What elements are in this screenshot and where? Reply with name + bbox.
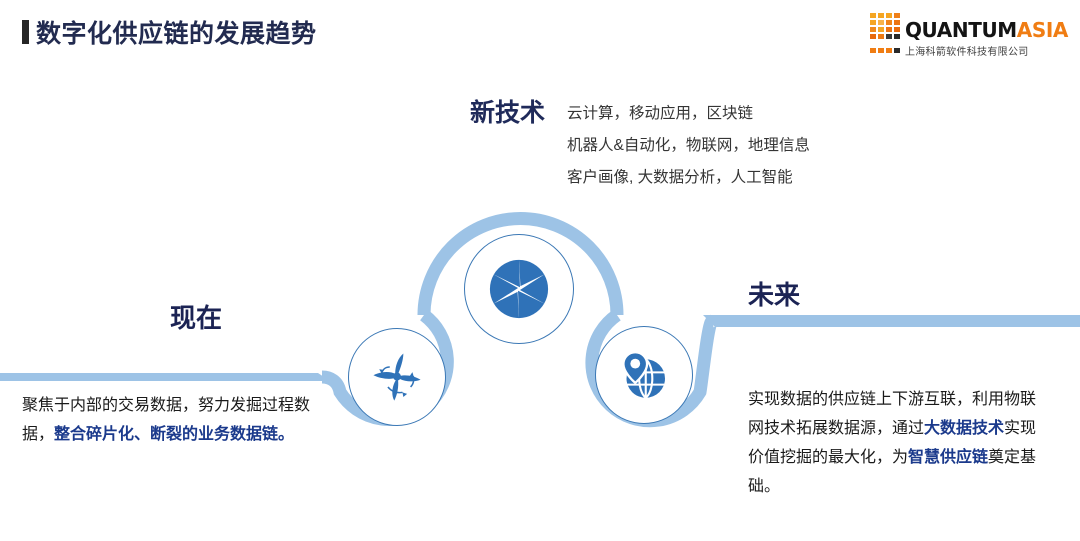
ribbon-right-bar	[703, 315, 1080, 327]
ribbon-left-bar	[0, 373, 330, 381]
logo-subgrid-icon	[870, 48, 900, 53]
future-heading: 未来	[748, 275, 800, 312]
page-title: 数字化供应链的发展趋势	[22, 14, 317, 50]
title-bar-marker-icon	[22, 20, 29, 44]
brand-logo: QUANTUMASIA 上海科箭软件科技有限公司	[870, 13, 1068, 58]
present-heading: 现在	[170, 298, 222, 335]
new-technology-block: 新技术 云计算，移动应用，区块链 机器人&自动化，物联网，地理信息 客户画像, …	[470, 98, 810, 193]
present-body: 聚焦于内部的交易数据，努力发掘过程数据，整合碎片化、断裂的业务数据链。	[22, 391, 332, 449]
node-present-state[interactable]	[348, 328, 446, 426]
globe-pin-icon	[616, 347, 672, 403]
future-body-highlight-1: 大数据技术	[924, 420, 1004, 437]
new-technology-label: 新技术	[470, 98, 545, 129]
logo-word-primary: QUANTUM	[905, 18, 1017, 42]
logo-wordmark: QUANTUMASIA	[905, 20, 1068, 40]
logo-subtitle-row: 上海科箭软件科技有限公司	[870, 43, 1029, 58]
new-technology-lines: 云计算，移动应用，区块链 机器人&自动化，物联网，地理信息 客户画像, 大数据分…	[567, 98, 810, 193]
new-technology-line: 客户画像, 大数据分析，人工智能	[567, 162, 810, 194]
location-pin-dot	[630, 359, 640, 369]
slide-canvas: 数字化供应链的发展趋势 QUANTUMASIA 上海科箭软件科技有限公司	[0, 0, 1080, 541]
aperture-icon	[488, 258, 550, 320]
new-technology-line: 机器人&自动化，物联网，地理信息	[567, 130, 810, 162]
future-body: 实现数据的供应链上下游互联，利用物联网技术拓展数据源，通过大数据技术实现价值挖掘…	[748, 385, 1048, 501]
logo-wordmark-row: QUANTUMASIA	[870, 13, 1068, 40]
node-future-state[interactable]	[595, 326, 693, 424]
new-technology-line: 云计算，移动应用，区块链	[567, 98, 810, 130]
pinwheel-icon	[368, 348, 426, 406]
page-title-text: 数字化供应链的发展趋势	[36, 14, 317, 50]
logo-word-accent: ASIA	[1017, 18, 1068, 42]
logo-subtitle: 上海科箭软件科技有限公司	[905, 43, 1029, 58]
future-body-highlight-2: 智慧供应链	[908, 449, 988, 466]
logo-grid-icon	[870, 13, 900, 39]
present-body-highlight: 整合碎片化、断裂的业务数据链。	[54, 426, 294, 443]
node-new-technology[interactable]	[464, 234, 574, 344]
